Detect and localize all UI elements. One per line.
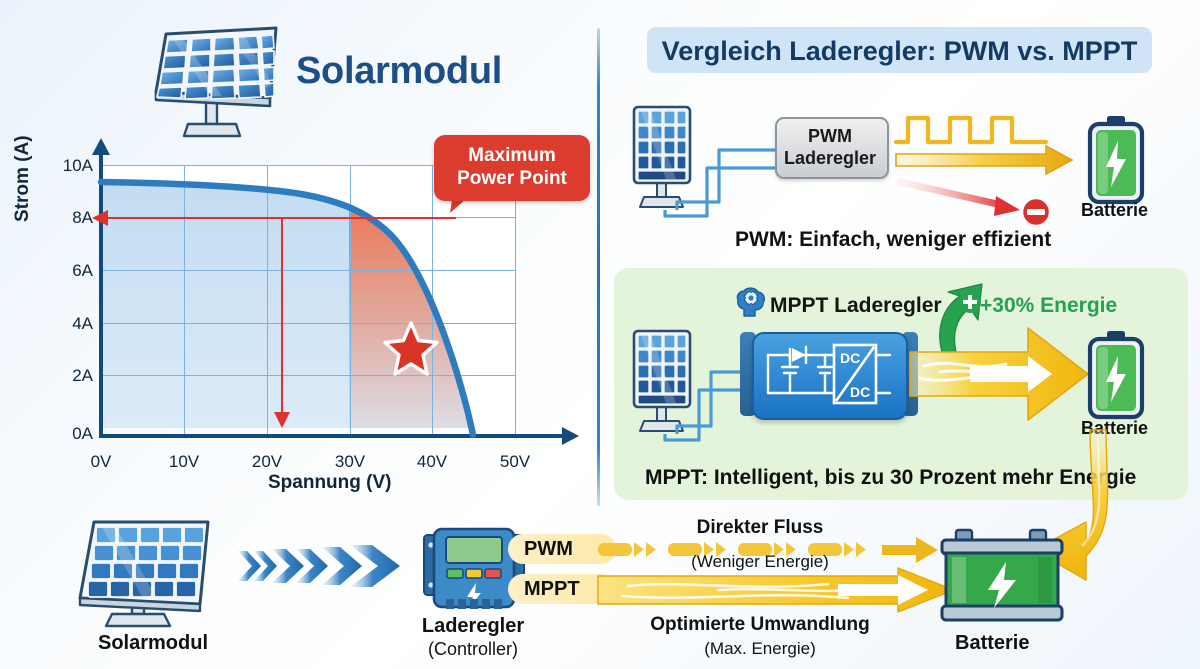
page-title: Solarmodul bbox=[296, 50, 502, 93]
y-tick-4a: 4A bbox=[47, 314, 93, 334]
infographic-canvas: Solarmodul bbox=[0, 0, 1200, 669]
flow-controller-label: Laderegler bbox=[408, 615, 538, 638]
x-tick-20v: 20V bbox=[237, 452, 297, 472]
flow-mppt-band bbox=[598, 572, 968, 612]
flow-battery-icon bbox=[938, 528, 1066, 626]
y-axis-title: Strom (A) bbox=[12, 135, 34, 222]
x-tick-10v: 10V bbox=[154, 452, 214, 472]
y-tick-6a: 6A bbox=[47, 261, 93, 281]
pwm-output-graphics bbox=[896, 108, 1086, 218]
flow-pwm-title: Direkter Fluss bbox=[640, 517, 880, 539]
callout-line-1: Maximum bbox=[442, 144, 582, 167]
pwm-box-line-1: PWM bbox=[775, 125, 885, 147]
y-axis-arrow bbox=[92, 138, 110, 155]
flow-mppt-title: Optimierte Umwandlung bbox=[620, 614, 900, 636]
flow-battery-label: Batterie bbox=[955, 632, 1029, 655]
gain-badge: +30% Energie bbox=[980, 294, 1117, 318]
x-axis-title: Spannung (V) bbox=[268, 472, 391, 494]
pwm-caption: PWM: Einfach, weniger effizient bbox=[735, 228, 1051, 252]
svg-text:DC: DC bbox=[840, 350, 860, 366]
y-tick-0a: 0A bbox=[47, 424, 93, 444]
flow-mppt-subtitle: (Max. Energie) bbox=[620, 639, 900, 659]
mpp-star-marker bbox=[383, 321, 439, 377]
mpp-voltage-arrowhead bbox=[274, 412, 290, 428]
mpp-current-arrowhead bbox=[92, 210, 108, 226]
flow-source-label: Solarmodul bbox=[98, 632, 208, 655]
mpp-voltage-arrow bbox=[281, 218, 283, 416]
pwm-battery-label: Batterie bbox=[1081, 200, 1148, 221]
pwm-wires bbox=[655, 128, 785, 223]
x-tick-40v: 40V bbox=[402, 452, 462, 472]
mppt-energy-arrow bbox=[910, 326, 1090, 422]
y-tick-8a: 8A bbox=[47, 208, 93, 228]
flow-pwm-subtitle: (Weniger Energie) bbox=[640, 552, 880, 572]
flow-controller-sublabel: (Controller) bbox=[408, 639, 538, 660]
x-tick-0v: 0V bbox=[71, 452, 131, 472]
brain-gear-icon bbox=[735, 286, 769, 318]
mppt-circuit-schematic: DC DC bbox=[766, 343, 892, 405]
solar-panel-icon bbox=[148, 24, 288, 142]
pwm-box-line-2: Laderegler bbox=[775, 147, 885, 169]
pwm-battery-icon bbox=[1084, 115, 1148, 207]
y-tick-10a: 10A bbox=[47, 156, 93, 176]
pwm-controller-label: PWM Laderegler bbox=[775, 125, 885, 169]
flow-chevron-arrows bbox=[238, 545, 418, 587]
mpp-callout: Maximum Power Point bbox=[434, 135, 590, 201]
comparison-banner-title: Vergleich Laderegler: PWM vs. MPPT bbox=[647, 36, 1152, 67]
x-tick-50v: 50V bbox=[485, 452, 545, 472]
mppt-device-label: MPPT Laderegler bbox=[770, 294, 942, 318]
svg-text:DC: DC bbox=[850, 384, 870, 400]
mpp-current-arrow bbox=[101, 217, 456, 219]
x-tick-30v: 30V bbox=[320, 452, 380, 472]
y-tick-2a: 2A bbox=[47, 366, 93, 386]
callout-line-2: Power Point bbox=[442, 167, 582, 190]
x-axis-arrow bbox=[562, 427, 579, 445]
mppt-battery-icon bbox=[1084, 330, 1148, 422]
flow-solar-panel-icon bbox=[66, 512, 216, 630]
